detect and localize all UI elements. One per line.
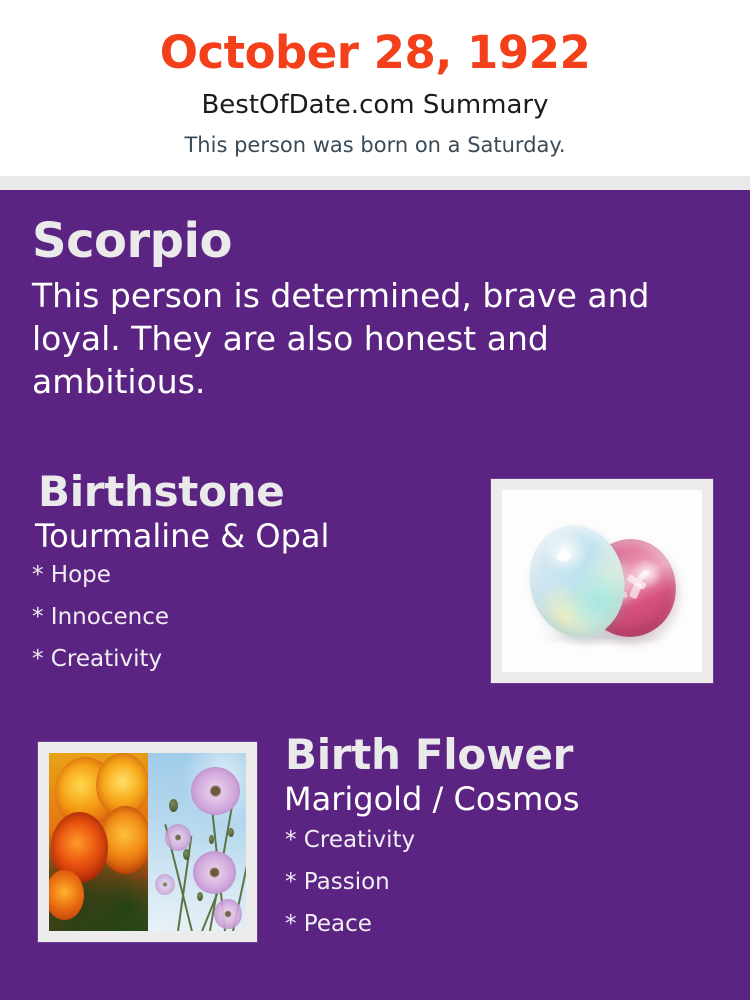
birth-flower-photo: [38, 742, 257, 942]
list-item: * Peace: [285, 913, 722, 955]
cosmos-bud: [197, 892, 203, 901]
list-item: * Hope: [32, 564, 482, 606]
birthstone-name: Tourmaline & Opal: [32, 515, 482, 555]
summary-card: October 28, 1922 BestOfDate.com Summary …: [0, 0, 750, 1000]
birth-flower-section: Birth Flower Marigold / Cosmos * Creativ…: [282, 733, 722, 955]
cosmos-bud: [183, 849, 190, 860]
page-title: October 28, 1922: [0, 0, 750, 75]
zodiac-section: Scorpio This person is determined, brave…: [32, 216, 718, 404]
opal-highlight: [555, 549, 572, 562]
card-header: October 28, 1922 BestOfDate.com Summary …: [0, 0, 750, 176]
birth-flower-trait-list: * Creativity * Passion * Peace: [282, 817, 722, 955]
facet-highlight: [629, 582, 643, 600]
cosmos-bloom: [155, 874, 175, 895]
birth-flower-name: Marigold / Cosmos: [282, 778, 722, 818]
birth-flower-title: Birth Flower: [282, 733, 722, 778]
cosmos-bloom: [165, 824, 191, 851]
zodiac-description: This person is determined, brave and loy…: [32, 267, 692, 404]
cosmos-panel: [148, 753, 247, 931]
marigold-panel: [49, 753, 148, 931]
list-item: * Creativity: [285, 829, 722, 871]
list-item: * Creativity: [32, 648, 482, 690]
cosmos-bud: [169, 799, 178, 811]
cosmos-bloom: [193, 851, 236, 894]
cosmos-bloom: [191, 767, 240, 815]
header-divider: [0, 176, 750, 190]
birth-flower-photo-inner: [49, 753, 246, 931]
birthstone-section: Birthstone Tourmaline & Opal * Hope * In…: [32, 470, 482, 690]
list-item: * Passion: [285, 871, 722, 913]
birthstone-title: Birthstone: [32, 470, 482, 515]
birthstone-trait-list: * Hope * Innocence * Creativity: [32, 554, 482, 690]
site-summary-label: BestOfDate.com Summary: [0, 75, 750, 118]
cosmos-bloom: [214, 899, 242, 929]
cosmos-bud: [209, 835, 215, 844]
birthstone-photo: [491, 479, 713, 683]
cosmos-bud: [228, 828, 234, 837]
list-item: * Innocence: [32, 606, 482, 648]
birthstone-photo-inner: [502, 490, 702, 672]
zodiac-sign-title: Scorpio: [32, 216, 718, 267]
marigold-bloom: [49, 870, 84, 920]
born-day-note: This person was born on a Saturday.: [0, 118, 750, 156]
